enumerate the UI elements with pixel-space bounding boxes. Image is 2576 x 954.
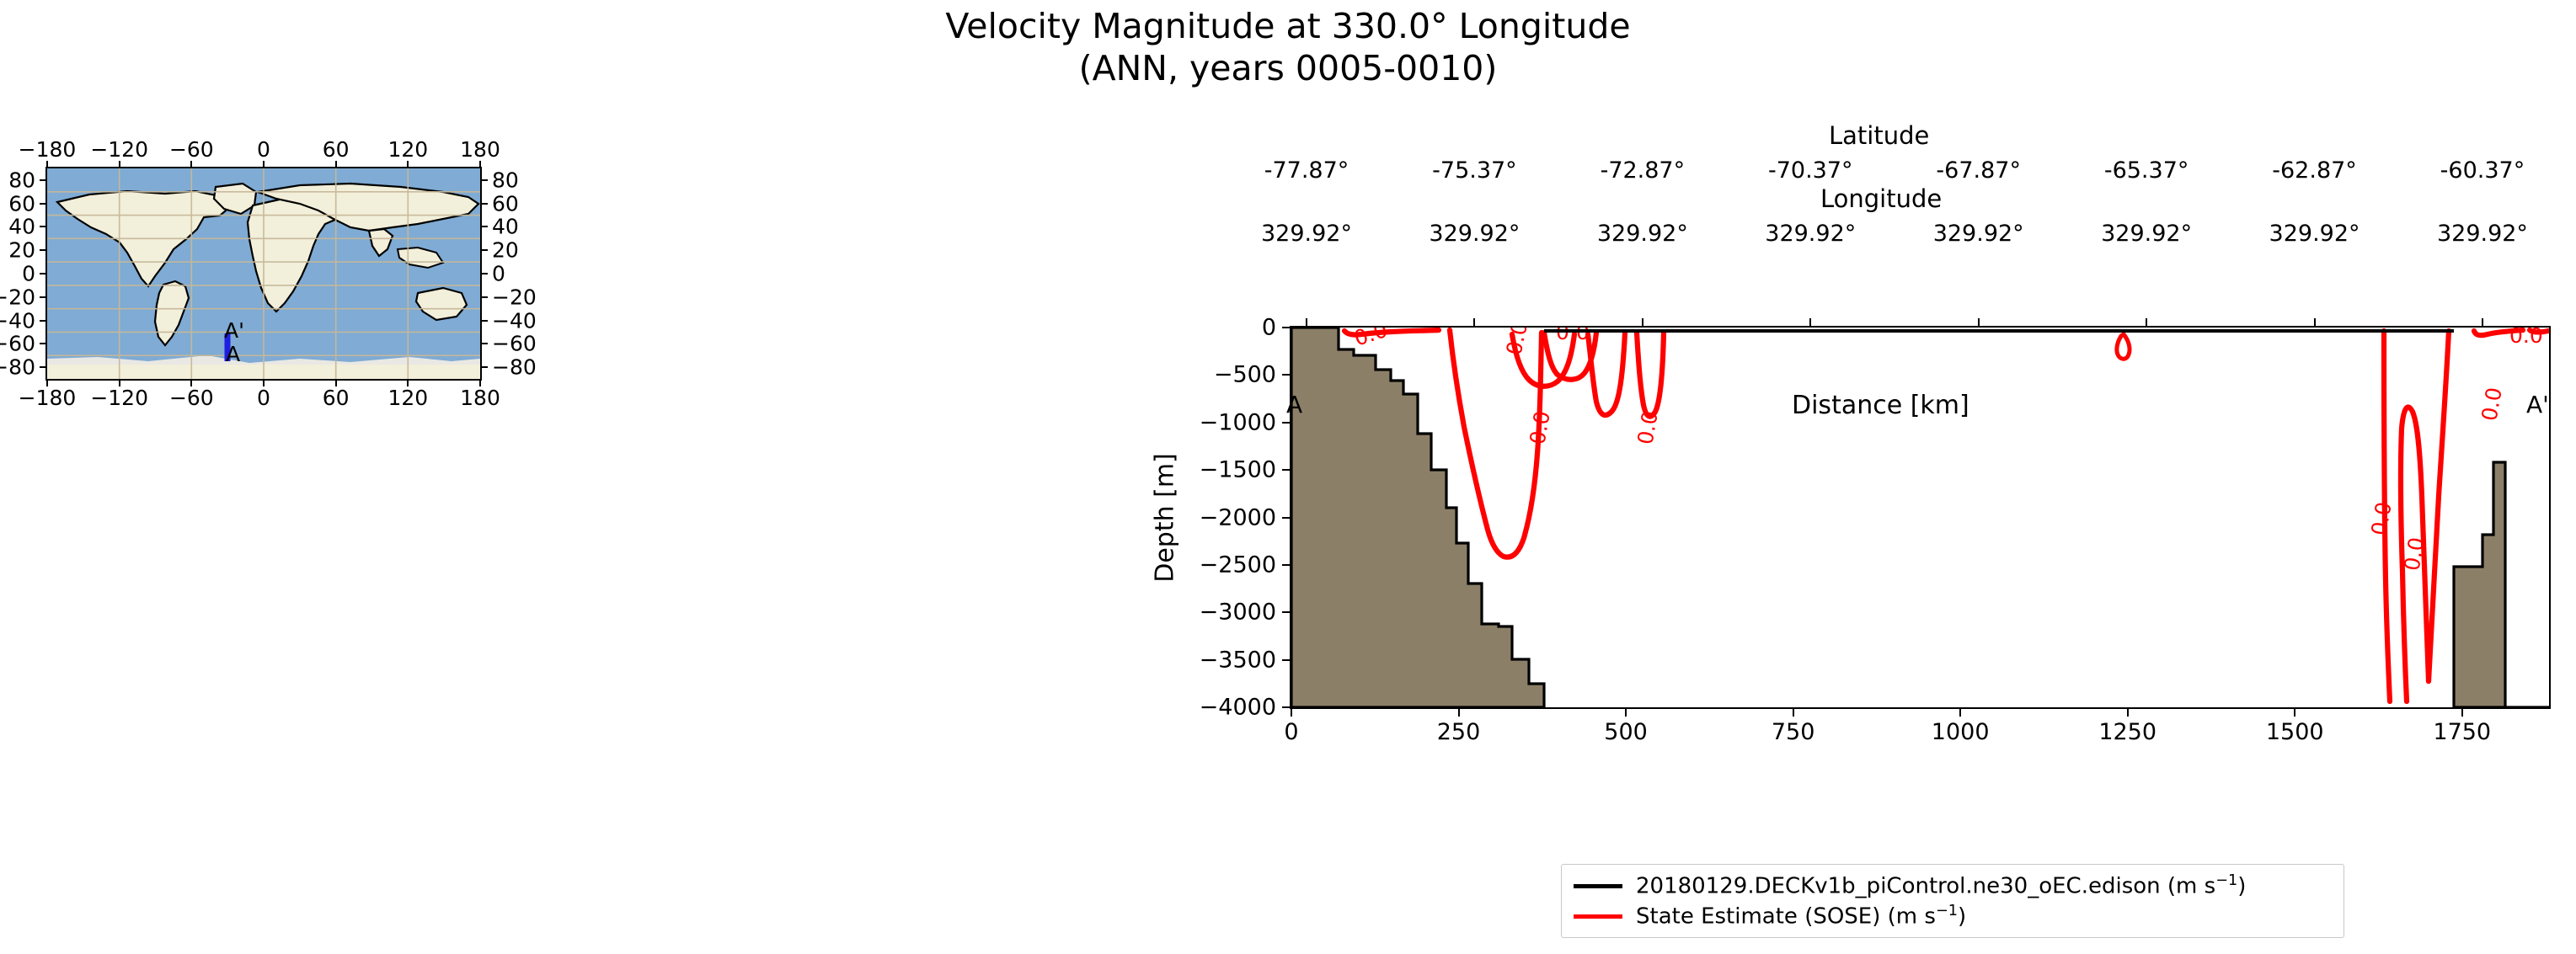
cross-section-graphic: 0.0 0.0 0.0 0.0 0.0 0.0 0.0 0.0 0.0 [1291, 328, 2549, 707]
distance-tick-label: 1500 [2266, 719, 2324, 745]
distance-tick-mark [2461, 709, 2463, 717]
map-y-tick-label: −40 [0, 308, 35, 333]
map-x-tick-label: 120 [387, 386, 428, 410]
legend[interactable]: 20180129.DECKv1b_piControl.ne30_oEC.edis… [1561, 864, 2344, 938]
depth-tick-label: −2500 [1200, 552, 1276, 578]
map-transect-start-label: A [226, 342, 240, 366]
map-transect-end-label: A' [224, 318, 244, 343]
map-panel: A' A −180−180−120−120−60−600060601201201… [45, 167, 482, 381]
depth-tick-label: −4000 [1200, 695, 1276, 721]
svg-text:0.0: 0.0 [1351, 328, 1391, 351]
longitude-tick-label: 329.92° [2101, 221, 2192, 247]
map-x-tick-label: 120 [387, 137, 428, 162]
map-y-tick-label: 80 [8, 168, 35, 192]
map-y-tick-mark [40, 320, 45, 322]
longitude-tick-label: 329.92° [1429, 221, 1520, 247]
map-y-tick-label: −20 [0, 285, 35, 309]
map-x-tick-mark [407, 381, 409, 386]
map-x-tick-label: −180 [19, 386, 77, 410]
cross-section-panel: 0.0 0.0 0.0 0.0 0.0 0.0 0.0 0.0 0.0 [1290, 326, 2551, 709]
map-x-tick-label: −60 [169, 386, 214, 410]
legend-swatch-sose-line-icon [1574, 914, 1622, 919]
title-line-2: (ANN, years 0005-0010) [0, 47, 2576, 89]
depth-tick-mark [1282, 374, 1290, 376]
depth-tick-label: −1000 [1200, 409, 1276, 435]
distance-axis-title: Distance [km] [1792, 391, 1969, 420]
distance-tick-mark [1625, 709, 1627, 717]
depth-tick-mark [1282, 706, 1290, 708]
longitude-tick-label: 329.92° [2269, 221, 2360, 247]
map-y-tick-label: 60 [492, 191, 519, 216]
map-x-tick-label: −180 [19, 137, 77, 162]
figure-title: Velocity Magnitude at 330.0° Longitude (… [0, 5, 2576, 89]
map-x-tick-mark [407, 161, 409, 167]
map-x-tick-label: −60 [169, 137, 214, 162]
longitude-tick-label: 329.92° [1933, 221, 2024, 247]
distance-tick-mark [1291, 709, 1292, 717]
depth-tick-label: 0 [1262, 315, 1276, 341]
map-x-tick-label: 60 [323, 137, 350, 162]
latitude-tick-mark [1642, 318, 1643, 326]
map-y-tick-mark [40, 343, 45, 344]
depth-tick-mark [1282, 327, 1290, 328]
depth-tick-label: −500 [1214, 362, 1276, 388]
map-y-tick-label: 0 [22, 262, 35, 286]
depth-tick-mark [1282, 564, 1290, 566]
depth-tick-mark [1282, 659, 1290, 661]
map-x-tick-mark [190, 161, 192, 167]
map-y-tick-label: 40 [492, 215, 519, 239]
figure-canvas: Velocity Magnitude at 330.0° Longitude (… [0, 0, 2576, 954]
latitude-tick-mark [2146, 318, 2147, 326]
map-x-tick-mark [479, 161, 481, 167]
latitude-tick-label: -72.87° [1601, 157, 1686, 184]
map-y-tick-mark [40, 273, 45, 274]
map-y-tick-label: −40 [492, 308, 537, 333]
latitude-tick-mark [1306, 318, 1307, 326]
distance-tick-mark [2127, 709, 2129, 717]
map-y-tick-label: 40 [8, 215, 35, 239]
longitude-tick-label: 329.92° [1261, 221, 1352, 247]
latitude-tick-label: -77.87° [1264, 157, 1349, 184]
map-y-tick-label: 0 [492, 262, 505, 286]
map-x-tick-label: 180 [460, 386, 500, 410]
svg-text:0.0: 0.0 [1525, 409, 1554, 446]
legend-swatch-model-line-icon [1574, 884, 1622, 888]
latitude-tick-label: -70.37° [1768, 157, 1853, 184]
distance-tick-mark [1959, 709, 1961, 717]
map-y-tick-label: −60 [492, 332, 537, 356]
distance-tick-label: 1750 [2433, 719, 2491, 745]
map-x-tick-mark [119, 381, 120, 386]
distance-tick-mark [2294, 709, 2295, 717]
depth-tick-label: −2000 [1200, 504, 1276, 530]
map-y-tick-label: 20 [8, 238, 35, 263]
contour-label-group: 0.0 0.0 0.0 0.0 0.0 0.0 0.0 0.0 0.0 [1351, 328, 2543, 573]
section-end-label: A' [2526, 391, 2549, 418]
title-line-1: Velocity Magnitude at 330.0° Longitude [0, 5, 2576, 47]
map-y-tick-mark [482, 296, 488, 298]
map-x-tick-mark [263, 161, 265, 167]
map-axes[interactable]: A' A [45, 167, 482, 381]
legend-item-model[interactable]: 20180129.DECKv1b_piControl.ne30_oEC.edis… [1574, 871, 2332, 901]
map-y-tick-mark [482, 179, 488, 181]
map-y-tick-mark [40, 203, 45, 205]
map-y-tick-mark [482, 249, 488, 251]
map-y-tick-label: −80 [492, 355, 537, 380]
map-x-tick-label: 180 [460, 137, 500, 162]
depth-axis-title: Depth [m] [1151, 453, 1180, 583]
map-x-tick-label: 0 [257, 137, 270, 162]
latitude-tick-mark [1978, 318, 1980, 326]
cross-section-axes[interactable]: 0.0 0.0 0.0 0.0 0.0 0.0 0.0 0.0 0.0 [1290, 326, 2551, 709]
latitude-tick-mark [1473, 318, 1475, 326]
map-x-tick-label: −120 [90, 386, 148, 410]
distance-tick-label: 0 [1284, 719, 1298, 745]
depth-tick-label: −3000 [1200, 600, 1276, 626]
distance-tick-label: 1250 [2098, 719, 2156, 745]
world-map-graphic [47, 168, 480, 379]
map-y-tick-mark [482, 366, 488, 368]
map-y-tick-mark [40, 249, 45, 251]
map-y-tick-label: −20 [492, 285, 537, 309]
map-x-tick-mark [119, 161, 120, 167]
sose-zero-contours [1344, 330, 2548, 701]
svg-text:0.0: 0.0 [2509, 328, 2543, 348]
legend-label-model: 20180129.DECKv1b_piControl.ne30_oEC.edis… [1636, 872, 2246, 899]
distance-tick-label: 1000 [1932, 719, 1990, 745]
map-x-tick-mark [190, 381, 192, 386]
depth-tick-label: −1500 [1200, 457, 1276, 483]
latitude-tick-label: -62.87° [2272, 157, 2357, 184]
map-x-tick-mark [335, 161, 337, 167]
depth-tick-mark [1282, 611, 1290, 613]
svg-text:0.0: 0.0 [2477, 386, 2506, 423]
depth-tick-mark [1282, 469, 1290, 471]
latitude-tick-label: -75.37° [1432, 157, 1517, 184]
depth-tick-mark [1282, 517, 1290, 519]
map-x-tick-mark [263, 381, 265, 386]
latitude-axis-title: Latitude [1829, 121, 1929, 150]
map-x-tick-mark [46, 381, 48, 386]
legend-label-sose: State Estimate (SOSE) (m s−1) [1636, 903, 1966, 930]
map-y-tick-label: 80 [492, 168, 519, 192]
legend-item-sose[interactable]: State Estimate (SOSE) (m s−1) [1574, 901, 2332, 931]
bathymetry-fill-right [2454, 462, 2549, 707]
depth-tick-label: −3500 [1200, 647, 1276, 673]
distance-tick-mark [1458, 709, 1460, 717]
map-y-tick-mark [482, 320, 488, 322]
map-y-tick-mark [482, 273, 488, 274]
map-y-tick-label: 60 [8, 191, 35, 216]
map-y-tick-mark [482, 203, 488, 205]
map-y-tick-mark [40, 366, 45, 368]
svg-text:0.0: 0.0 [2366, 500, 2396, 537]
map-y-tick-label: −60 [0, 332, 35, 356]
map-x-tick-label: 60 [323, 386, 350, 410]
depth-tick-mark [1282, 422, 1290, 424]
longitude-tick-label: 329.92° [2437, 221, 2528, 247]
map-y-tick-label: −80 [0, 355, 35, 380]
longitude-tick-label: 329.92° [1765, 221, 1856, 247]
map-y-tick-label: 20 [492, 238, 519, 263]
latitude-tick-label: -65.37° [2104, 157, 2189, 184]
map-x-tick-label: 0 [257, 386, 270, 410]
map-x-tick-mark [46, 161, 48, 167]
latitude-tick-mark [2482, 318, 2483, 326]
distance-tick-mark [1793, 709, 1794, 717]
longitude-tick-label: 329.92° [1597, 221, 1688, 247]
longitude-axis-title: Longitude [1820, 184, 1942, 213]
distance-tick-label: 500 [1604, 719, 1648, 745]
map-y-tick-mark [40, 226, 45, 227]
latitude-tick-mark [2314, 318, 2316, 326]
bathymetry-fill [1291, 328, 1544, 707]
latitude-tick-label: -67.87° [1936, 157, 2021, 184]
svg-text:0.0: 0.0 [1633, 409, 1662, 446]
map-x-tick-mark [479, 381, 481, 386]
map-x-tick-mark [335, 381, 337, 386]
latitude-tick-label: -60.37° [2440, 157, 2525, 184]
distance-tick-label: 750 [1772, 719, 1815, 745]
map-y-tick-mark [482, 226, 488, 227]
map-x-tick-label: −120 [90, 137, 148, 162]
section-start-label: A [1286, 391, 1302, 418]
map-y-tick-mark [482, 343, 488, 344]
distance-tick-label: 250 [1437, 719, 1481, 745]
svg-text:0.0: 0.0 [1502, 328, 1533, 357]
latitude-tick-mark [1809, 318, 1811, 326]
map-y-tick-mark [40, 179, 45, 181]
map-y-tick-mark [40, 296, 45, 298]
